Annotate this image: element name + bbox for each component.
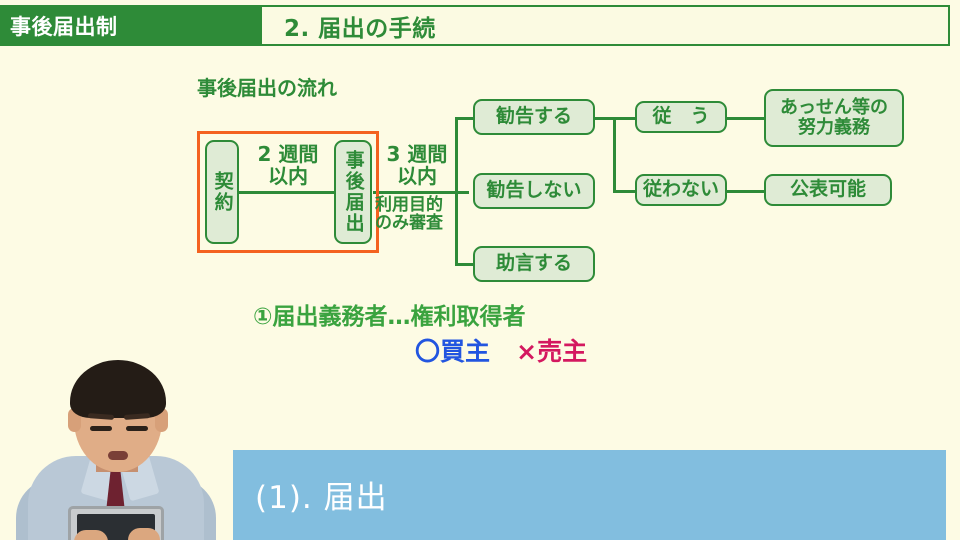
presenter-hair [70, 360, 166, 418]
note-marks-line: 〇買主 ×売主 [415, 332, 587, 368]
label-purpose-review: 利用目的 のみ審査 [375, 196, 467, 233]
bottom-banner: (1). 届出 [233, 450, 946, 540]
connector-sub-trunk [613, 117, 616, 191]
page-title: 2. 届出の手続 [262, 9, 436, 43]
node-assen-doryoku-gimu[interactable]: あっせん等の 努力義務 [764, 89, 904, 147]
connector-shitagawanai-to-kouhyou [726, 190, 766, 193]
node-shitagawanai[interactable]: 従わない [635, 174, 727, 206]
note-obligation-line: ①届出義務者…権利取得者 [253, 297, 525, 331]
node-kouhyou-kanou[interactable]: 公表可能 [764, 174, 892, 206]
presenter-hand-right [128, 528, 160, 540]
section-subtitle: 事後届出の流れ [197, 72, 337, 101]
node-kankoku-shinai[interactable]: 勧告しない [473, 173, 595, 209]
node-jigo-todokede[interactable]: 事後届出 [334, 140, 372, 244]
node-keiyaku[interactable]: 契約 [205, 140, 239, 244]
note-ok-mark: 〇買主 [415, 337, 490, 366]
presenter-video-overlay [0, 352, 228, 540]
presenter-eye-right [126, 426, 148, 431]
label-three-weeks: 3 週間 以内 [377, 144, 457, 187]
node-shitagau[interactable]: 従 う [635, 101, 727, 133]
slide-canvas: 事後届出制 2. 届出の手続 事後届出の流れ 2 週間 以内 3 週間 以内 利… [0, 0, 960, 540]
bottom-banner-label: (1). 届出 [255, 472, 388, 517]
connector-branch-trunk [455, 117, 458, 265]
presenter-mouth [108, 451, 128, 460]
connector-shitagau-to-assen [726, 117, 766, 120]
header-tag-label: 事後届出制 [0, 11, 118, 41]
label-two-weeks: 2 週間 以内 [245, 144, 331, 187]
node-jogen-suru[interactable]: 助言する [473, 246, 595, 282]
header-title-bar: 2. 届出の手続 [262, 5, 950, 46]
node-kankoku-suru[interactable]: 勧告する [473, 99, 595, 135]
presenter-eye-left [90, 426, 112, 431]
header-tag-block: 事後届出制 [0, 5, 262, 46]
note-ng-mark: ×売主 [516, 337, 587, 366]
presenter-hand-left [74, 530, 108, 540]
connector-kankoku-to-sub [595, 117, 637, 120]
